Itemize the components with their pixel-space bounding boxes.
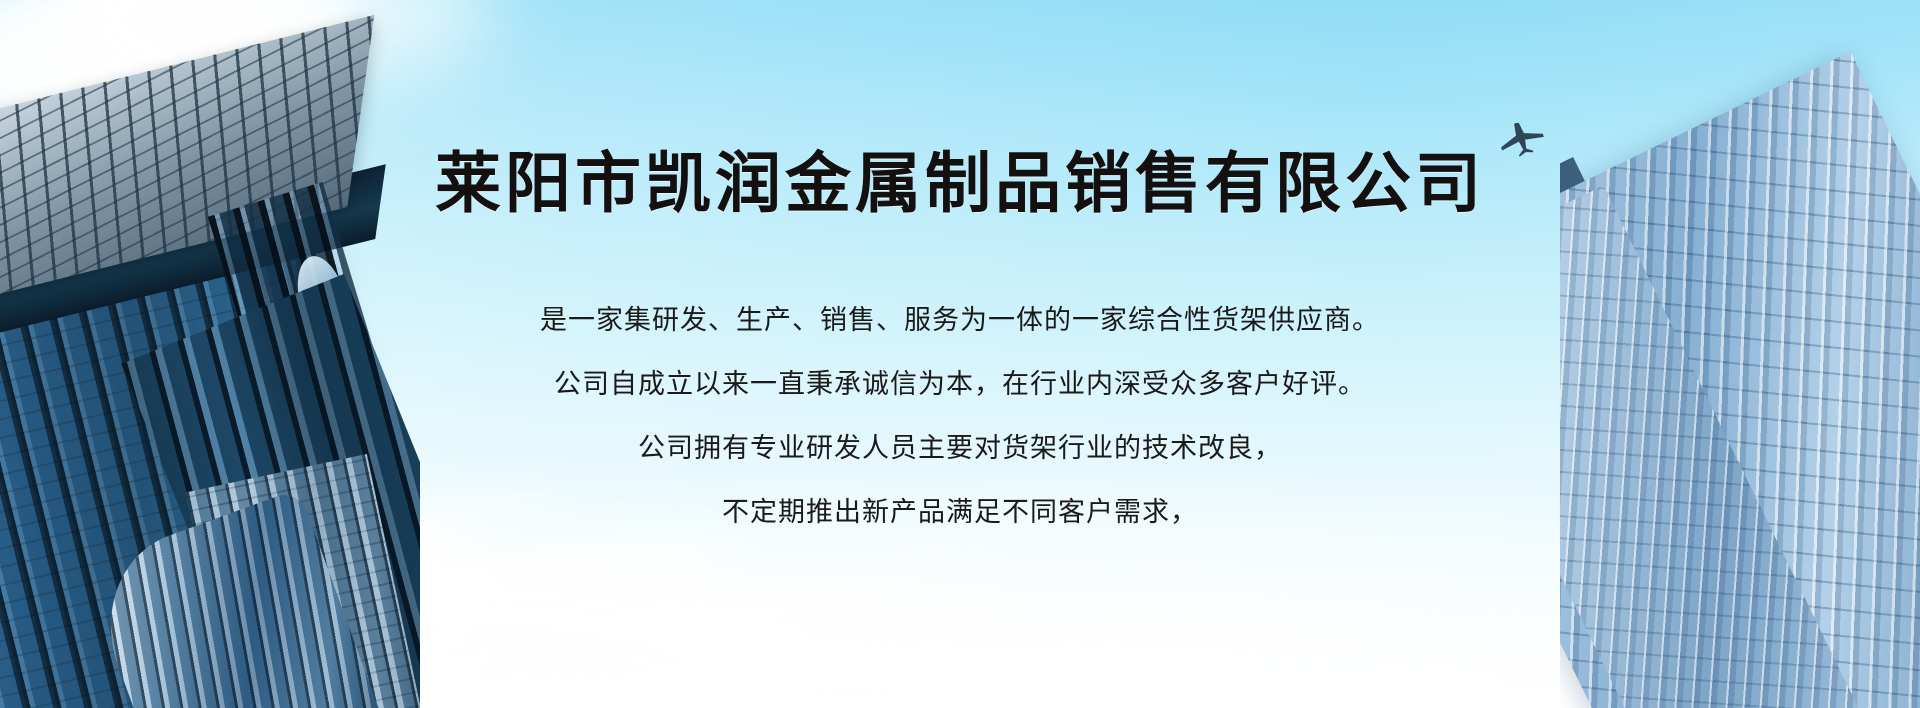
description-line-2: 公司自成立以来一直秉承诚信为本，在行业内深受众多客户好评。 bbox=[0, 371, 1920, 398]
description-line-1: 是一家集研发、生产、销售、服务为一体的一家综合性货架供应商。 bbox=[0, 307, 1920, 334]
company-hero-banner: 莱阳市凯润金属制品销售有限公司 是一家集研发、生产、销售、服务为一体的一家综合性… bbox=[0, 0, 1920, 708]
description-line-3: 公司拥有专业研发人员主要对货架行业的技术改良， bbox=[0, 435, 1920, 462]
page-title: 莱阳市凯润金属制品销售有限公司 bbox=[0, 150, 1920, 216]
description-line-4: 不定期推出新产品满足不同客户需求， bbox=[0, 499, 1920, 526]
banner-text-block: 莱阳市凯润金属制品销售有限公司 是一家集研发、生产、销售、服务为一体的一家综合性… bbox=[0, 0, 1920, 708]
